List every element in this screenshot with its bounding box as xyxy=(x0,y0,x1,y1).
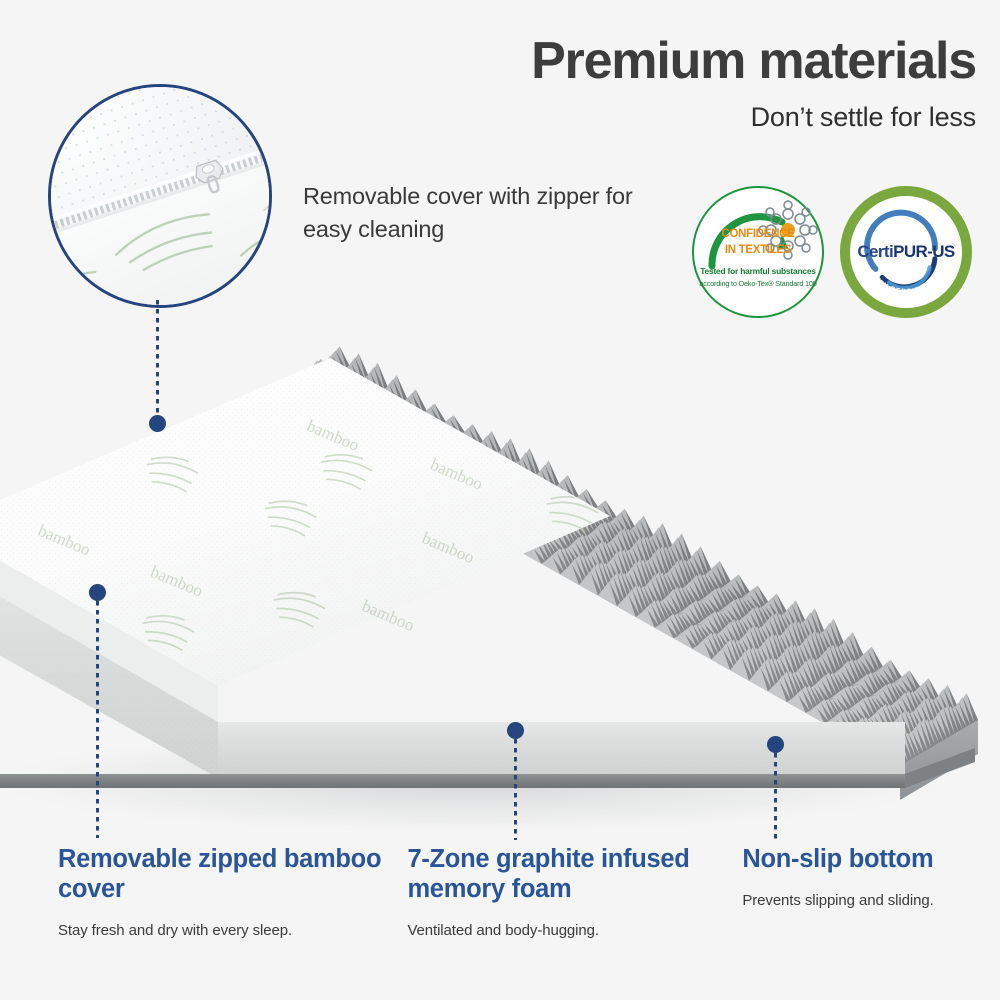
connector-dot xyxy=(507,722,524,739)
product-illustration: bamboobamboobamboobamboobamboobamboo xyxy=(0,330,1000,830)
connector-line xyxy=(514,730,517,840)
connector-line xyxy=(96,592,99,838)
feature-item-memory-foam: 7-Zone graphite infused memory foam Vent… xyxy=(407,845,742,939)
non-slip-base-strip xyxy=(0,774,905,788)
connector-dot xyxy=(767,736,784,753)
feature-title: 7-Zone graphite infused memory foam xyxy=(407,845,726,905)
connector-feature-3 xyxy=(774,744,777,840)
infographic-canvas: bamboobamboobamboobamboobamboobamboo xyxy=(0,0,1000,1000)
connector-feature-2 xyxy=(514,730,517,840)
bamboo-cover-layer xyxy=(0,358,975,788)
certipur-us-badge: CONTAINS CERTIFIED FLEXIBLE POLYURETHANE… xyxy=(840,186,972,318)
oeko-line-2: IN TEXTILES xyxy=(694,244,822,257)
oeko-tex-badge: CONFIDENCE IN TEXTILES Tested for harmfu… xyxy=(692,186,824,318)
feature-title: Non-slip bottom xyxy=(742,845,984,875)
connector-line xyxy=(774,744,777,840)
oeko-line-3: Tested for harmful substances xyxy=(694,266,822,276)
mattress-topper-graphic: bamboobamboobamboobamboobamboobamboo xyxy=(0,330,1000,830)
feature-title: Removable zipped bamboo cover xyxy=(58,845,391,905)
page-subtitle: Don’t settle for less xyxy=(336,103,976,133)
page-title: Premium materials xyxy=(336,34,976,89)
zipper-callout-text: Removable cover with zipper for easy cle… xyxy=(303,180,633,247)
zipper-detail-photo xyxy=(48,84,272,308)
feature-description: Prevents slipping and sliding. xyxy=(742,892,984,909)
header-block: Premium materials Don’t settle for less xyxy=(336,34,976,132)
certification-badges: CONFIDENCE IN TEXTILES Tested for harmfu… xyxy=(692,186,972,318)
feature-description: Ventilated and body-hugging. xyxy=(407,922,726,939)
feature-item-bamboo-cover: Removable zipped bamboo cover Stay fresh… xyxy=(58,845,407,939)
feature-item-non-slip: Non-slip bottom Prevents slipping and sl… xyxy=(742,845,1000,939)
feature-description: Stay fresh and dry with every sleep. xyxy=(58,922,391,939)
oeko-line-4: according to Oeko-Tex® Standard 100 xyxy=(694,279,822,288)
connector-zipper-callout xyxy=(156,300,159,424)
oeko-line-1: CONFIDENCE xyxy=(694,228,822,241)
connector-line xyxy=(156,300,159,424)
connector-dot xyxy=(89,584,106,601)
connector-dot xyxy=(149,415,166,432)
connector-feature-1 xyxy=(96,592,99,838)
svg-text:WWW.CERTIPUR.US: WWW.CERTIPUR.US xyxy=(868,270,943,295)
certipur-wordmark: CertiPUR-US xyxy=(857,242,954,262)
feature-list: Removable zipped bamboo cover Stay fresh… xyxy=(0,845,1000,939)
